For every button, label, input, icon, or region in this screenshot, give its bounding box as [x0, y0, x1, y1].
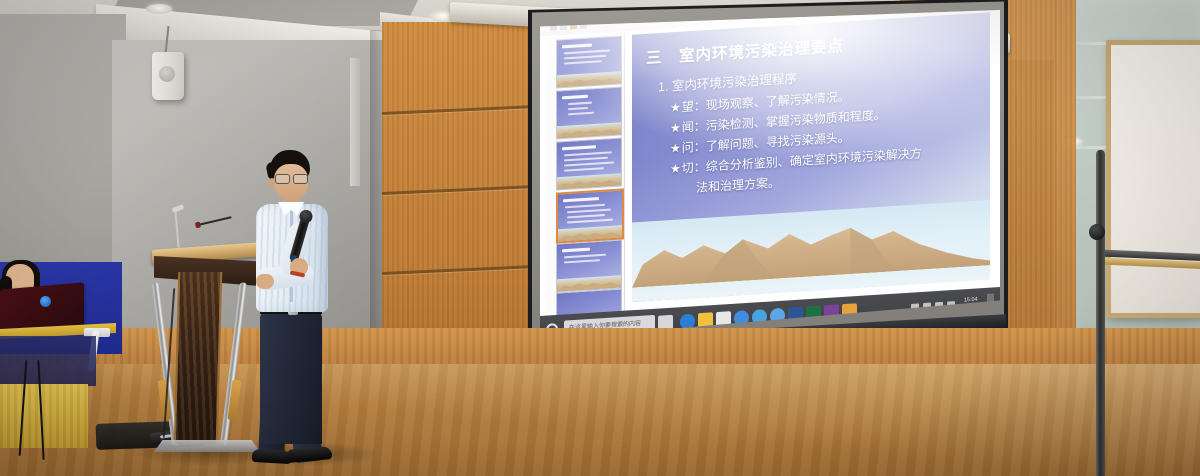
thumb-dune-graphic [557, 71, 621, 87]
laptop-logo-icon [40, 296, 51, 307]
thumb-body-line [568, 112, 594, 116]
thumb-body-line [564, 60, 602, 64]
lecture-hall-photo: 三 室内环境污染治理要点 1. 室内环境污染治理程序 ★望：现场观察、了解污染情… [0, 0, 1200, 476]
thumb-body-line [564, 161, 614, 166]
thumb-body-line [567, 214, 605, 218]
bullet-label: 问： [682, 139, 706, 155]
slide-thumbnail[interactable] [556, 86, 622, 139]
star-bullet-icon: ★ [670, 100, 681, 115]
presenter-speaker [238, 148, 368, 468]
star-bullet-icon: ★ [670, 161, 681, 176]
presenter-trousers [260, 312, 322, 444]
whiteboard-stand-pole [1096, 150, 1105, 476]
slide-thumbnail[interactable] [556, 35, 622, 88]
star-bullet-icon: ★ [670, 141, 681, 156]
desk-under-shelf [0, 336, 96, 386]
thumb-body-line [564, 157, 608, 162]
thumb-title-line [562, 145, 596, 150]
presenter-shoe-right [286, 446, 333, 463]
thumb-body-line [565, 204, 605, 209]
thumb-body-line [568, 107, 588, 110]
presenter-hand-left [256, 274, 274, 289]
star-bullet-icon: ★ [670, 120, 681, 135]
slide-thumbnail-pane[interactable] [546, 33, 625, 315]
thumb-title-line [562, 43, 592, 48]
bullet-label: 望： [682, 99, 706, 115]
bullet-label: 闻： [682, 119, 706, 135]
active-slide[interactable]: 三 室内环境污染治理要点 1. 室内环境污染治理程序 ★望：现场观察、了解污染情… [632, 12, 990, 302]
thumb-body-line [564, 55, 606, 60]
thumb-body-line [564, 254, 606, 259]
thumb-body-line [564, 259, 600, 263]
thumb-body-line [567, 209, 611, 214]
whiteboard-adjust-knob[interactable] [1089, 224, 1105, 240]
whiteboard-surface [1106, 40, 1200, 318]
bullet-label: 切： [682, 160, 706, 176]
powerpoint-window: 三 室内环境污染治理要点 1. 室内环境污染治理程序 ★望：现场观察、了解污染情… [540, 10, 1000, 340]
lectern-front-panel [174, 272, 223, 444]
thumb-body-line [567, 219, 613, 224]
thumb-title-line [562, 248, 590, 253]
ceiling-downlight [146, 4, 172, 14]
thumb-body-line [564, 167, 604, 172]
wall-speaker [152, 52, 184, 100]
thumb-dune-graphic [557, 173, 621, 189]
thumb-title-line [563, 197, 599, 202]
whiteboard-flipchart [1086, 24, 1200, 476]
slide-thumbnail-selected[interactable] [556, 188, 624, 243]
thumb-body-line [564, 49, 610, 54]
eyeglasses-icon [274, 174, 308, 182]
thumb-body-line [568, 102, 592, 106]
slide-bullet-list: ★望：现场观察、了解污染情况。 ★闻：污染检测、掌握污染物质和程度。 ★问：了解… [670, 78, 982, 200]
thumb-dune-graphic [557, 122, 621, 138]
slide-thumbnail[interactable] [556, 137, 622, 190]
slide-title: 三 室内环境污染治理要点 [646, 34, 844, 69]
desk-front-panel [0, 384, 88, 448]
slide-thumbnail[interactable] [556, 239, 622, 292]
projected-image: 三 室内环境污染治理要点 1. 室内环境污染治理程序 ★望：现场观察、了解污染情… [540, 10, 1000, 340]
thumb-body-line [564, 151, 612, 156]
thumb-title-line [562, 95, 588, 100]
